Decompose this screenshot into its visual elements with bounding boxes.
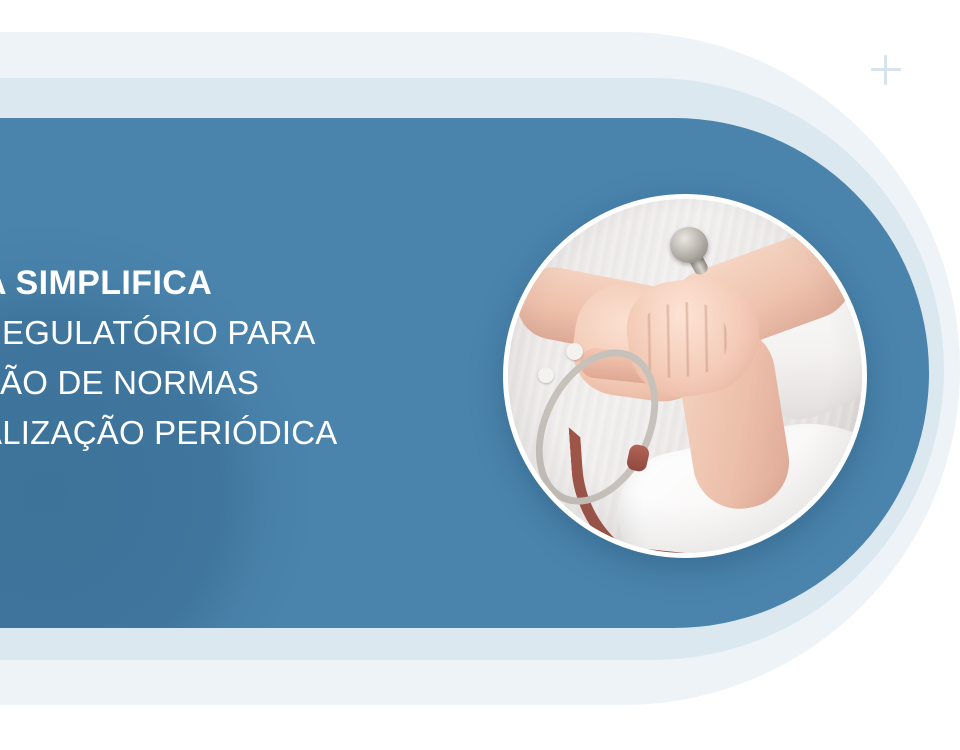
photo-image [508,199,862,553]
plus-icon [871,55,901,85]
headline-line-4: ALIZAÇÃO PERIÓDICA [0,408,470,458]
headline-line-2: REGULATÓRIO PARA [0,308,470,358]
banner-root: A SIMPLIFICA REGULATÓRIO PARA ÇÃO DE NOR… [0,0,960,750]
circular-photo [503,194,867,558]
headline-line-1: A SIMPLIFICA [0,258,470,308]
headline-line-3: ÇÃO DE NORMAS [0,358,470,408]
photo-vignette [508,199,862,553]
headline-block: A SIMPLIFICA REGULATÓRIO PARA ÇÃO DE NOR… [0,258,470,458]
